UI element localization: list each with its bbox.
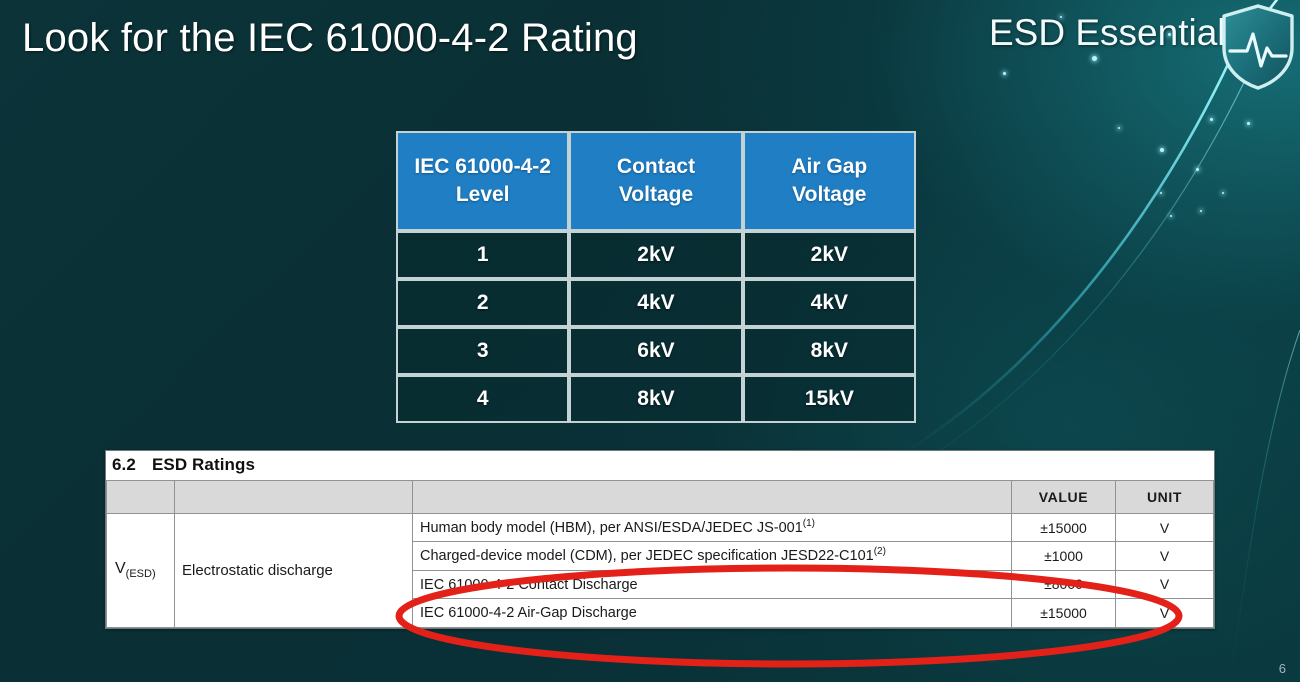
header-line: Contact [577,153,734,181]
cell-level: 2 [396,279,569,327]
cell-symbol: V(ESD) [107,514,175,628]
description-text: IEC 61000-4-2 Contact Discharge [420,577,638,593]
iec-level-table: IEC 61000-4-2 Level Contact Voltage Air … [396,131,916,423]
header-line: Air Gap [751,153,908,181]
header-line: IEC 61000-4-2 [404,153,561,181]
table-row: 3 6kV 8kV [396,327,916,375]
table-row: 4 8kV 15kV [396,375,916,423]
table-row: 2 4kV 4kV [396,279,916,327]
cell-contact: 2kV [569,231,742,279]
column-header-blank-description [413,481,1012,514]
table-header-row: IEC 61000-4-2 Level Contact Voltage Air … [396,131,916,231]
cell-unit: V [1116,570,1214,598]
description-text: Human body model (HBM), per ANSI/ESDA/JE… [420,520,803,536]
cell-value: ±15000 [1012,514,1116,542]
shield-heartbeat-icon [1220,4,1296,90]
cell-description: Human body model (HBM), per ANSI/ESDA/JE… [413,514,1012,542]
datasheet-section-heading: 6.2ESD Ratings [106,451,1214,480]
page-title: Look for the IEC 61000-4-2 Rating [22,16,638,61]
cell-description: IEC 61000-4-2 Air-Gap Discharge [413,599,1012,627]
header-line: Level [404,181,561,209]
slide-canvas: Look for the IEC 61000-4-2 Rating ESD Es… [0,0,1300,682]
section-title: ESD Ratings [152,455,255,474]
description-text: Charged-device model (CDM), per JEDEC sp… [420,548,874,564]
datasheet-header-row: VALUE UNIT [107,481,1214,514]
footnote-marker: (2) [874,546,886,557]
page-number: 6 [1279,661,1286,676]
esd-ratings-table: VALUE UNIT V(ESD) Electrostatic discharg… [106,480,1214,628]
cell-contact: 4kV [569,279,742,327]
datasheet-excerpt: 6.2ESD Ratings VALUE UNIT [105,450,1215,629]
cell-description: Charged-device model (CDM), per JEDEC sp… [413,542,1012,570]
cell-airgap: 4kV [743,279,916,327]
cell-level: 4 [396,375,569,423]
symbol-subscript: (ESD) [126,568,156,580]
cell-contact: 8kV [569,375,742,423]
brand-label: ESD Essentials [989,12,1244,54]
header-line: Voltage [577,181,734,209]
cell-level: 3 [396,327,569,375]
table-row: V(ESD) Electrostatic discharge Human bod… [107,514,1214,542]
cell-level: 1 [396,231,569,279]
column-header-blank-parameter [175,481,413,514]
cell-value: ±15000 [1012,599,1116,627]
cell-airgap: 2kV [743,231,916,279]
cell-value: ±1000 [1012,542,1116,570]
footnote-marker: (1) [803,518,815,529]
header-line: Voltage [751,181,908,209]
cell-unit: V [1116,599,1214,627]
column-header-contact-voltage: Contact Voltage [569,131,742,231]
cell-airgap: 8kV [743,327,916,375]
description-text: IEC 61000-4-2 Air-Gap Discharge [420,605,637,621]
cell-description: IEC 61000-4-2 Contact Discharge [413,570,1012,598]
table-row: 1 2kV 2kV [396,231,916,279]
brand-lockup: ESD Essentials [989,12,1244,54]
column-header-air-gap-voltage: Air Gap Voltage [743,131,916,231]
symbol-base: V [115,560,126,577]
cell-value: ±8000 [1012,570,1116,598]
cell-unit: V [1116,542,1214,570]
column-header-level: IEC 61000-4-2 Level [396,131,569,231]
section-number: 6.2 [112,455,136,474]
cell-contact: 6kV [569,327,742,375]
column-header-value: VALUE [1012,481,1116,514]
cell-airgap: 15kV [743,375,916,423]
column-header-unit: UNIT [1116,481,1214,514]
cell-parameter: Electrostatic discharge [175,514,413,628]
cell-unit: V [1116,514,1214,542]
column-header-blank-symbol [107,481,175,514]
